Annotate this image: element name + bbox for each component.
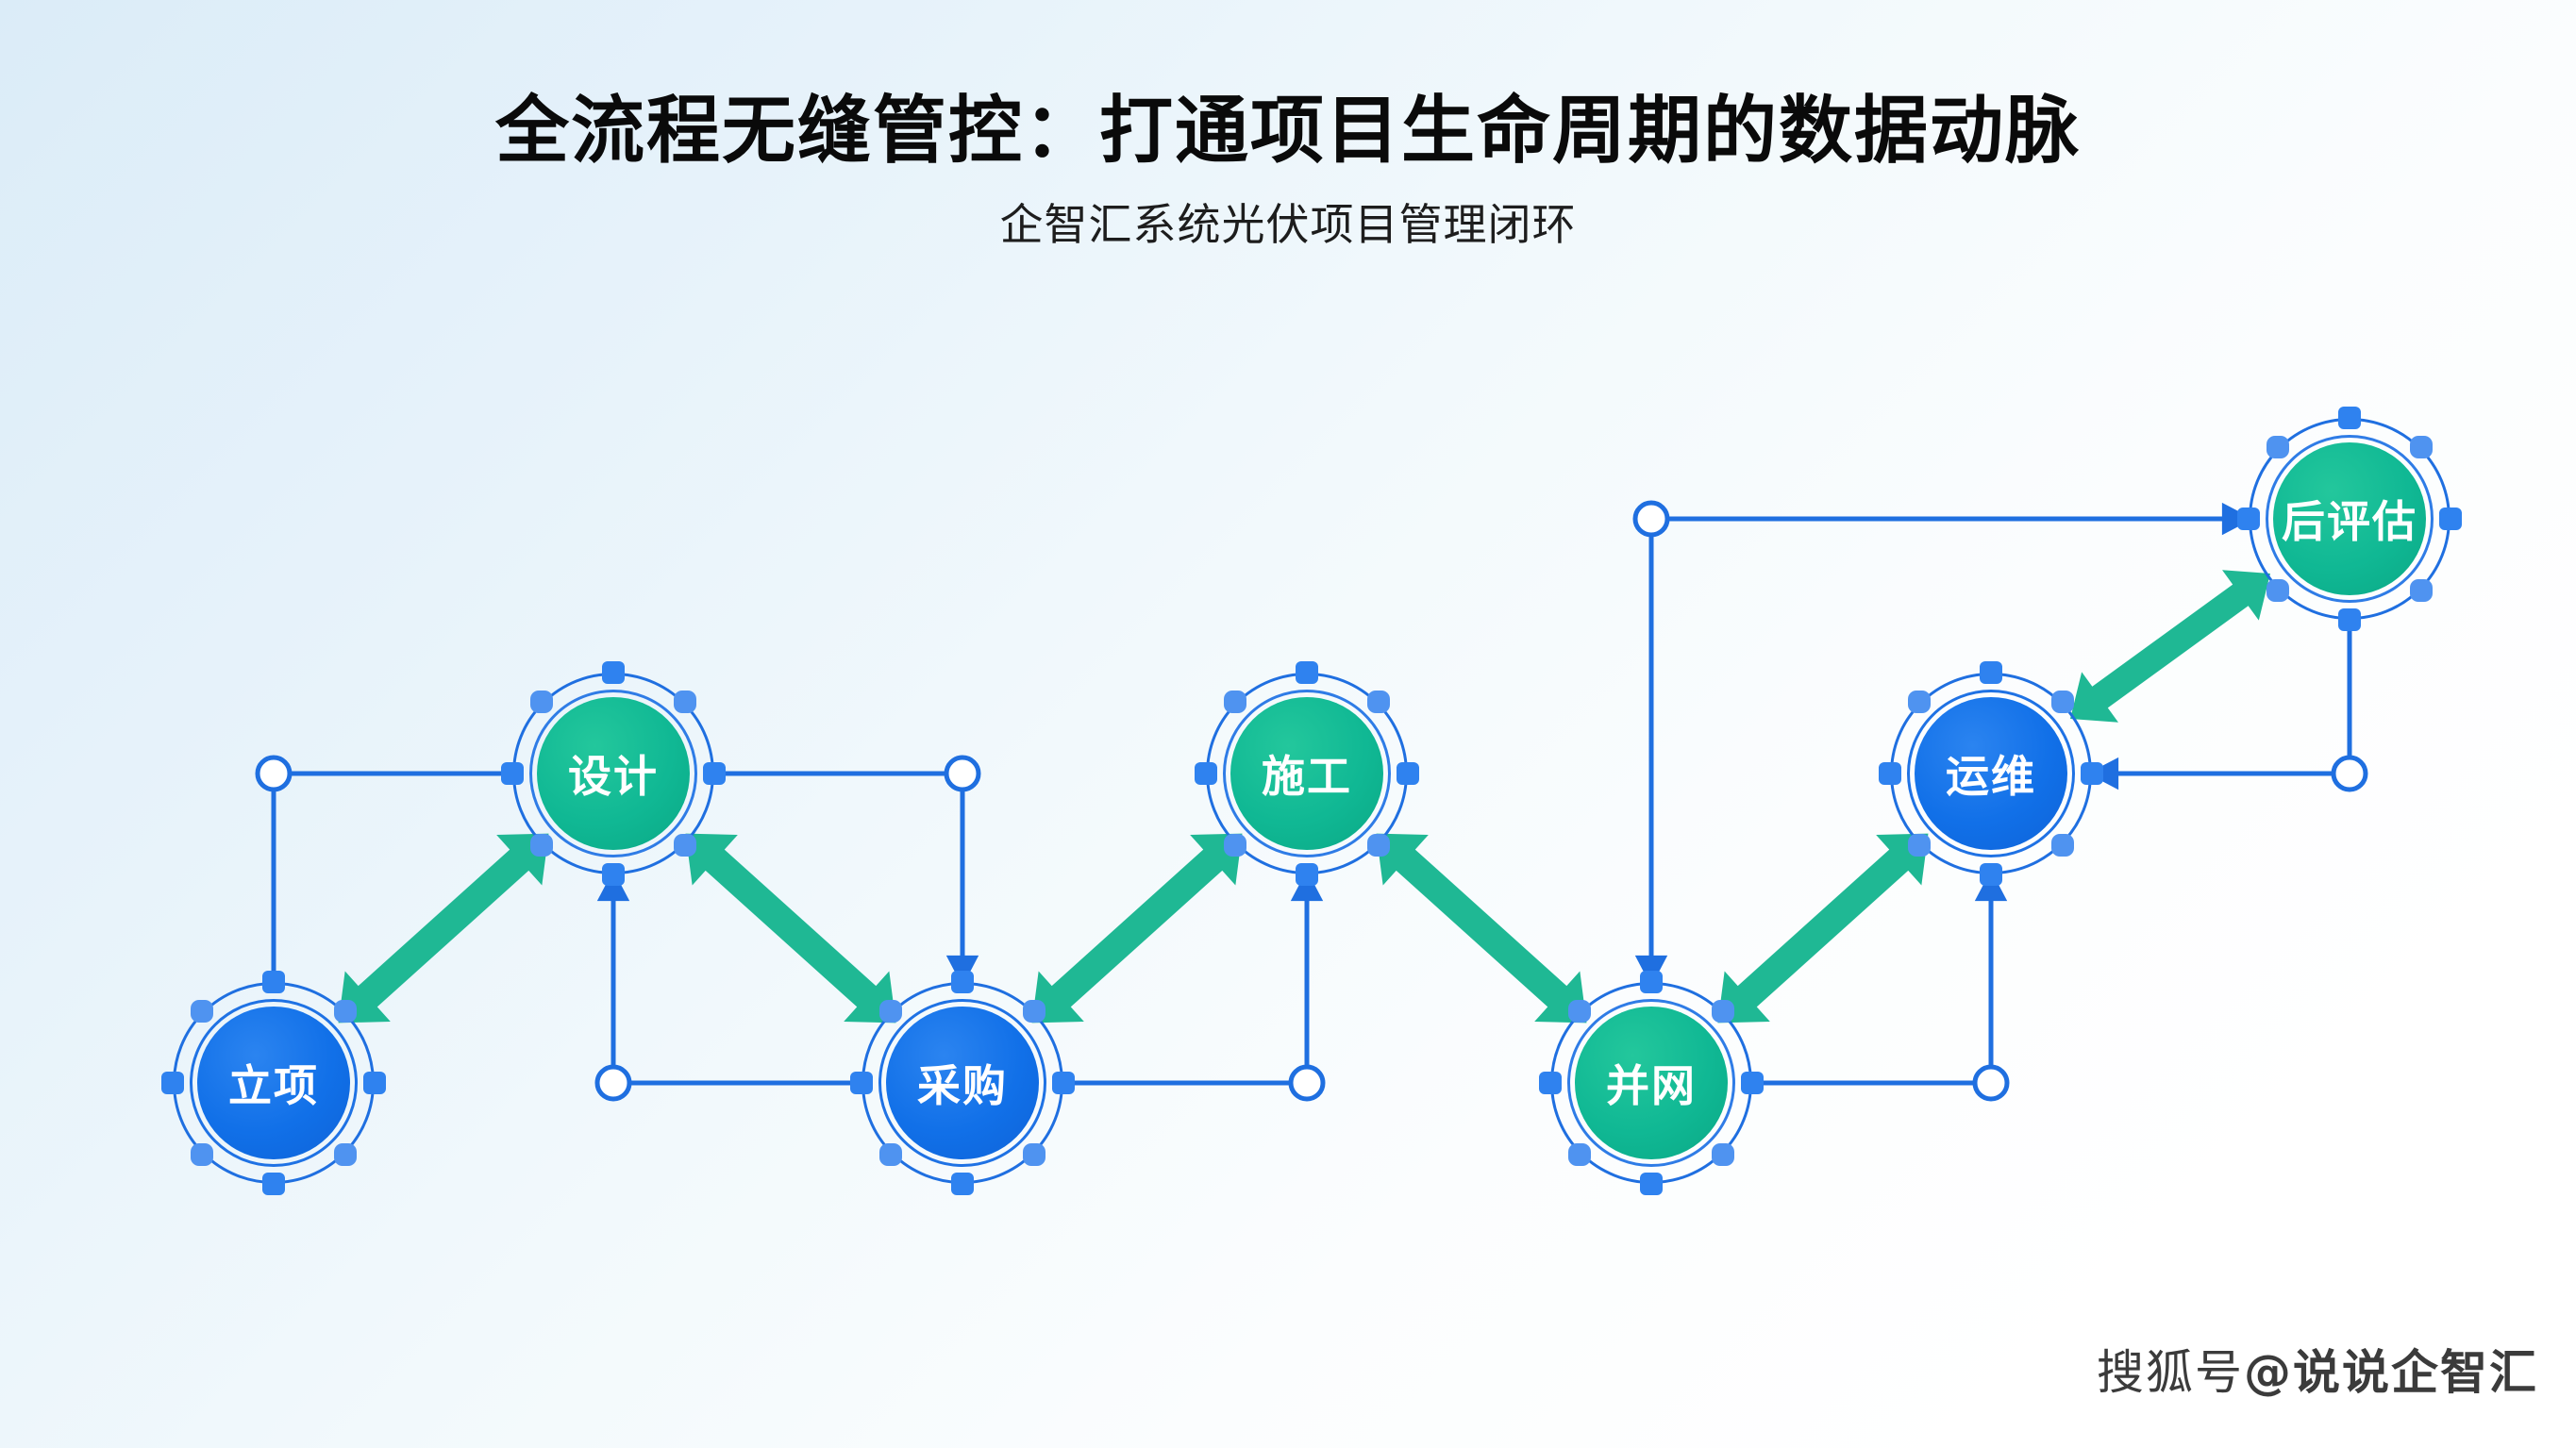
handle-e[interactable] — [703, 762, 726, 785]
handle-se[interactable] — [1367, 834, 1390, 857]
handle-se[interactable] — [2410, 579, 2433, 602]
handle-ne[interactable] — [674, 691, 696, 713]
origin-dot — [1291, 1067, 1323, 1099]
handle-se[interactable] — [1712, 1143, 1734, 1166]
link-lixiang-sheji — [274, 774, 512, 982]
handle-e[interactable] — [1741, 1072, 1764, 1094]
handle-e[interactable] — [2439, 508, 2462, 530]
handle-s[interactable] — [1296, 863, 1318, 886]
handle-w[interactable] — [501, 762, 524, 785]
handle-e[interactable] — [1052, 1072, 1075, 1094]
link-caigou-sheji-up — [613, 874, 861, 1083]
handle-w[interactable] — [1879, 762, 1901, 785]
handle-n[interactable] — [1980, 661, 2002, 684]
watermark: 搜狐号 @说说企智汇 — [2097, 1335, 2538, 1403]
handle-sw[interactable] — [1224, 834, 1246, 857]
handle-sw[interactable] — [530, 834, 553, 857]
handle-nw[interactable] — [1568, 1000, 1591, 1023]
handle-s[interactable] — [262, 1173, 285, 1195]
handle-s[interactable] — [1980, 863, 2002, 886]
node-label: 运维 — [1946, 742, 2036, 805]
handle-e[interactable] — [1397, 762, 1419, 785]
origin-dot — [2333, 757, 2366, 790]
handle-nw[interactable] — [1224, 691, 1246, 713]
watermark-account: @说说企智汇 — [2244, 1335, 2538, 1403]
handle-se[interactable] — [334, 1143, 357, 1166]
handle-ne[interactable] — [2410, 436, 2433, 458]
handle-ne[interactable] — [334, 1000, 357, 1023]
handle-n[interactable] — [951, 971, 974, 993]
handle-nw[interactable] — [879, 1000, 902, 1023]
node-core: 立项 — [197, 1007, 350, 1159]
handle-sw[interactable] — [2267, 579, 2289, 602]
handle-n[interactable] — [1296, 661, 1318, 684]
node-core: 采购 — [886, 1007, 1039, 1159]
handle-n[interactable] — [602, 661, 625, 684]
node-label: 立项 — [228, 1052, 319, 1114]
origin-dot — [1975, 1067, 2007, 1099]
handle-w[interactable] — [161, 1072, 184, 1094]
handle-nw[interactable] — [1908, 691, 1931, 713]
handle-w[interactable] — [1539, 1072, 1562, 1094]
origin-dot — [1635, 503, 1667, 535]
handle-se[interactable] — [2051, 834, 2074, 857]
node-core: 运维 — [1915, 697, 2067, 850]
handle-s[interactable] — [951, 1173, 974, 1195]
handle-sw[interactable] — [879, 1143, 902, 1166]
node-label: 采购 — [917, 1052, 1008, 1114]
node-label: 施工 — [1262, 742, 1352, 805]
handle-sw[interactable] — [1568, 1143, 1591, 1166]
diagram-canvas: 全流程无缝管控：打通项目生命周期的数据动脉 企智汇系统光伏项目管理闭环 — [0, 0, 2576, 1448]
node-core: 设计 — [537, 697, 690, 850]
watermark-platform: 搜狐号 — [2097, 1335, 2244, 1403]
origin-dot — [258, 757, 290, 790]
origin-dot — [597, 1067, 629, 1099]
node-label: 设计 — [568, 742, 659, 805]
handle-ne[interactable] — [1367, 691, 1390, 713]
handle-s[interactable] — [602, 863, 625, 886]
handle-n[interactable] — [1640, 971, 1663, 993]
handle-ne[interactable] — [2051, 691, 2074, 713]
handle-e[interactable] — [363, 1072, 386, 1094]
node-core: 后评估 — [2273, 442, 2426, 595]
handle-ne[interactable] — [1023, 1000, 1045, 1023]
handle-se[interactable] — [674, 834, 696, 857]
link-houpinggu-yunwei — [2092, 620, 2350, 774]
handle-w[interactable] — [850, 1072, 873, 1094]
handle-w[interactable] — [1195, 762, 1217, 785]
node-core: 并网 — [1575, 1007, 1728, 1159]
handle-nw[interactable] — [191, 1000, 213, 1023]
handle-n[interactable] — [262, 971, 285, 993]
node-core: 施工 — [1230, 697, 1383, 850]
origin-dot — [946, 757, 979, 790]
handle-e[interactable] — [2081, 762, 2103, 785]
handle-nw[interactable] — [530, 691, 553, 713]
node-label: 后评估 — [2282, 488, 2417, 550]
node-label: 并网 — [1606, 1052, 1697, 1114]
handle-w[interactable] — [2237, 508, 2260, 530]
handle-ne[interactable] — [1712, 1000, 1734, 1023]
handle-sw[interactable] — [191, 1143, 213, 1166]
handle-se[interactable] — [1023, 1143, 1045, 1166]
handle-nw[interactable] — [2267, 436, 2289, 458]
handle-s[interactable] — [2338, 608, 2361, 631]
handle-sw[interactable] — [1908, 834, 1931, 857]
handle-s[interactable] — [1640, 1173, 1663, 1195]
bi-arrow-yunwei-houpinggu — [2052, 548, 2289, 743]
handle-n[interactable] — [2338, 407, 2361, 429]
